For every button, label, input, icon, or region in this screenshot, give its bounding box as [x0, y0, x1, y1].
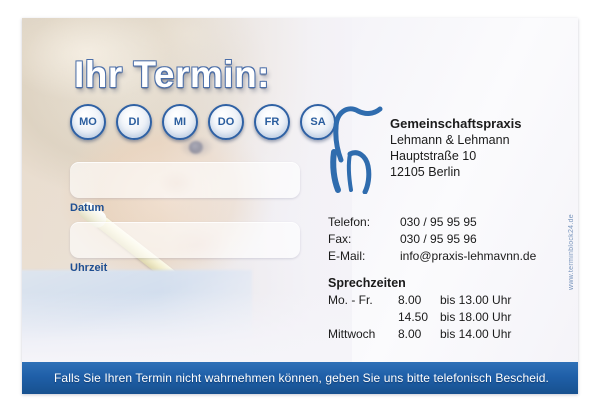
contact-row-email: E-Mail: info@praxis-lehmavnn.de: [328, 248, 536, 265]
date-input[interactable]: [70, 162, 300, 198]
office-hours-from-2: 14.50: [398, 309, 440, 326]
office-hours-to-3: bis 14.00 Uhr: [440, 326, 511, 343]
weekday-selector: MO DI MI DO FR SA: [70, 104, 336, 140]
weekday-button-mo[interactable]: MO: [70, 104, 106, 140]
contact-block: Telefon: 030 / 95 95 95 Fax: 030 / 95 95…: [328, 214, 536, 265]
office-hours-days-3: Mittwoch: [328, 326, 398, 343]
footer-banner: Falls Sie Ihren Termin nicht wahrnehmen …: [22, 362, 578, 394]
office-hours-row-3: Mittwoch 8.00 bis 14.00 Uhr: [328, 326, 511, 343]
watermark-url: www.terminblock24.de: [568, 214, 575, 290]
contact-label-fax: Fax:: [328, 231, 400, 248]
office-hours-from-1: 8.00: [398, 292, 440, 309]
contact-value-email[interactable]: info@praxis-lehmavnn.de: [400, 248, 536, 265]
time-input[interactable]: [70, 222, 300, 258]
office-hours-days-1: Mo. - Fr.: [328, 292, 398, 309]
office-hours-to-1: bis 13.00 Uhr: [440, 292, 511, 309]
contact-label-telefon: Telefon:: [328, 214, 400, 231]
weekday-button-fr[interactable]: FR: [254, 104, 290, 140]
date-field-label: Datum: [70, 202, 300, 214]
photo-fade-bottom: [22, 292, 352, 362]
contact-value-fax: 030 / 95 95 96: [400, 231, 477, 248]
weekday-button-do[interactable]: DO: [208, 104, 244, 140]
practice-owners: Lehmann & Lehmann: [390, 132, 522, 148]
page-title: Ihr Termin:: [74, 54, 270, 96]
time-field-group: Uhrzeit: [70, 222, 300, 274]
contact-row-telefon: Telefon: 030 / 95 95 95: [328, 214, 536, 231]
office-hours-from-3: 8.00: [398, 326, 440, 343]
practice-info: Gemeinschaftspraxis Lehmann & Lehmann Ha…: [390, 116, 522, 180]
office-hours-title: Sprechzeiten: [328, 276, 511, 290]
tooth-logo-icon: [328, 102, 386, 194]
date-field-group: Datum: [70, 162, 300, 214]
practice-name: Gemeinschaftspraxis: [390, 116, 522, 132]
office-hours-to-2: bis 18.00 Uhr: [440, 309, 511, 326]
office-hours-days-2: [328, 309, 398, 326]
weekday-button-mi[interactable]: MI: [162, 104, 198, 140]
office-hours-row-2: 14.50 bis 18.00 Uhr: [328, 309, 511, 326]
contact-value-telefon: 030 / 95 95 95: [400, 214, 477, 231]
practice-city: 12105 Berlin: [390, 164, 522, 180]
contact-label-email: E-Mail:: [328, 248, 400, 265]
page: Ihr Termin: MO DI MI DO FR SA Datum Uhrz…: [0, 0, 600, 420]
contact-row-fax: Fax: 030 / 95 95 96: [328, 231, 536, 248]
office-hours-row-1: Mo. - Fr. 8.00 bis 13.00 Uhr: [328, 292, 511, 309]
appointment-card: Ihr Termin: MO DI MI DO FR SA Datum Uhrz…: [22, 18, 578, 394]
weekday-button-di[interactable]: DI: [116, 104, 152, 140]
practice-street: Hauptstraße 10: [390, 148, 522, 164]
footer-banner-text: Falls Sie Ihren Termin nicht wahrnehmen …: [54, 371, 549, 385]
office-hours-block: Sprechzeiten Mo. - Fr. 8.00 bis 13.00 Uh…: [328, 276, 511, 343]
time-field-label: Uhrzeit: [70, 262, 300, 274]
